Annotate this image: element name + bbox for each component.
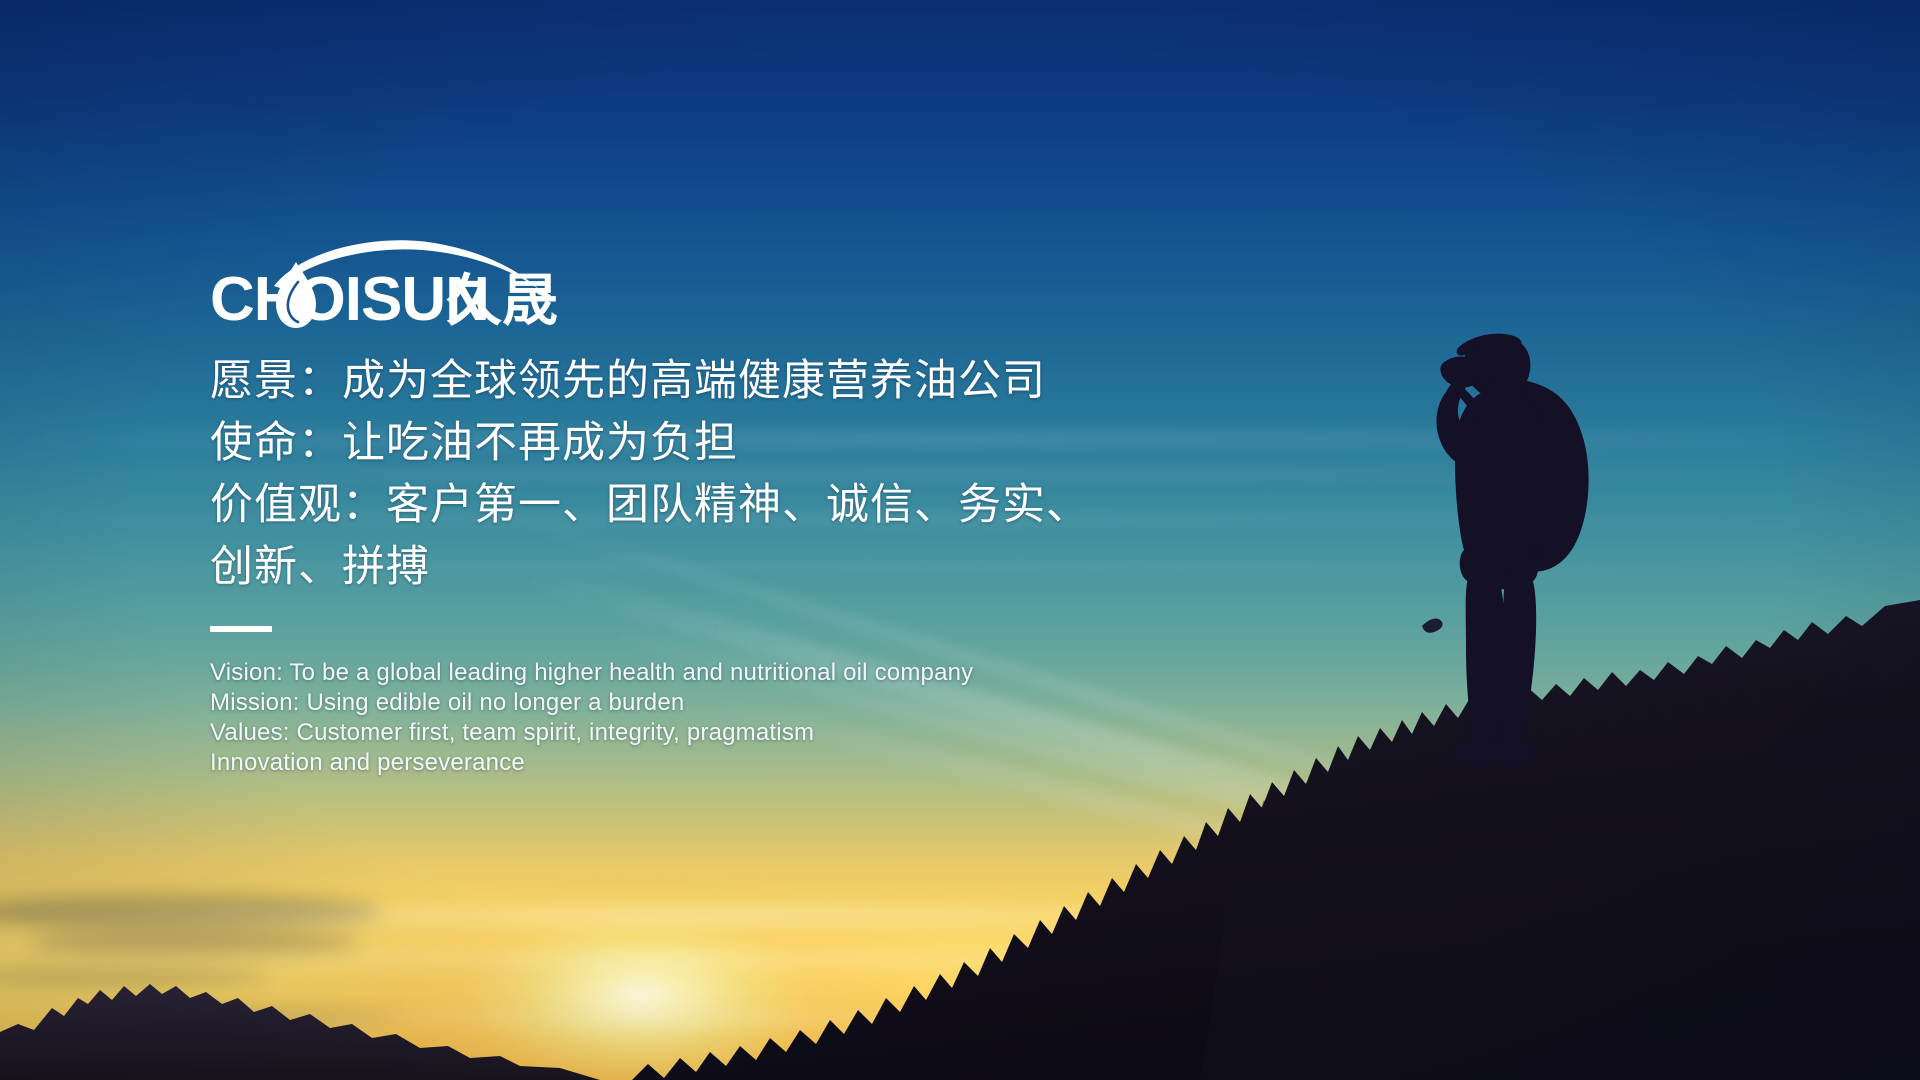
values-line-cn-cont: 创新、拼搏 bbox=[210, 536, 1310, 598]
statements-english: Vision: To be a global leading higher he… bbox=[210, 658, 1310, 778]
slide-canvas: CHOISUN 久晟 愿景：成为全球领先的高端健康营养油公司 使命：让吃油不再成… bbox=[0, 0, 1920, 1080]
values-line-en: Values: Customer first, team spirit, int… bbox=[210, 718, 1310, 748]
hiker-silhouette bbox=[1380, 330, 1640, 790]
statements-chinese: 愿景：成为全球领先的高端健康营养油公司 使命：让吃油不再成为负担 价值观：客户第… bbox=[210, 350, 1310, 598]
vision-line-en: Vision: To be a global leading higher he… bbox=[210, 658, 1310, 688]
vision-line-cn: 愿景：成为全球领先的高端健康营养油公司 bbox=[210, 350, 1310, 412]
values-line-cn: 价值观：客户第一、团队精神、诚信、务实、 bbox=[210, 474, 1310, 536]
brand-logo[interactable]: CHOISUN 久晟 bbox=[210, 236, 560, 328]
mission-line-cn: 使命：让吃油不再成为负担 bbox=[210, 412, 1310, 474]
logo-svg: CHOISUN 久晟 bbox=[210, 236, 560, 328]
section-divider bbox=[210, 626, 272, 632]
mission-line-en: Mission: Using edible oil no longer a bu… bbox=[210, 688, 1310, 718]
logo-wordmark-cn: 久晟 bbox=[446, 269, 558, 328]
values-line-en-cont: Innovation and perseverance bbox=[210, 748, 1310, 778]
content-block: CHOISUN 久晟 愿景：成为全球领先的高端健康营养油公司 使命：让吃油不再成… bbox=[210, 236, 1310, 778]
